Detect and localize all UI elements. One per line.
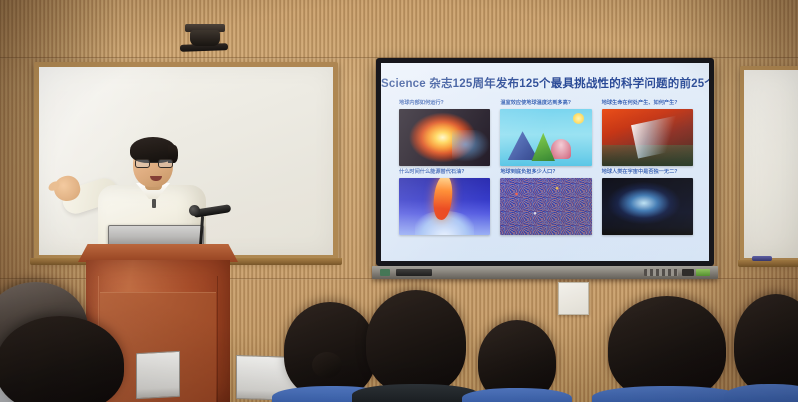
podium-laptop xyxy=(108,225,204,247)
audience-head-4 xyxy=(366,290,466,394)
audience-shoulder-4 xyxy=(352,384,480,402)
lens-left xyxy=(135,159,150,168)
audience-shoulder-6 xyxy=(592,386,742,402)
slide-tile-3: 地球生命在何处产生、如何产生? xyxy=(602,101,693,166)
slide-tile-label: 什么时间什么能源替代石油? xyxy=(399,170,490,176)
brand-logo xyxy=(396,269,432,276)
slide-tile-2: 温室效应使地球温度达到多高? xyxy=(500,101,591,166)
port-panel xyxy=(644,269,678,276)
slide-tile-label: 地球内部如何运行? xyxy=(399,101,490,107)
lens-right xyxy=(158,159,173,168)
audience-head-6 xyxy=(608,296,726,400)
whiteboard-right xyxy=(740,66,798,262)
slide-title: Science 杂志125周年发布125个最具挑战性的科学问题的前25个 xyxy=(381,75,709,91)
slide-tile-label: 温室效应使地球温度达到多高? xyxy=(500,101,591,107)
sensor-window xyxy=(682,269,694,276)
slide-tile-6: 地球人类在宇宙中是否独一无二? xyxy=(602,170,693,235)
cosmos-image xyxy=(602,178,693,235)
power-indicator xyxy=(380,269,390,276)
slide-tile-label: 地球生命在何处产生、如何产生? xyxy=(602,101,693,107)
dome-shape xyxy=(551,139,571,160)
presentation-display: Science 杂志125周年发布125个最具挑战性的科学问题的前25个 地球内… xyxy=(376,58,714,266)
population-image xyxy=(500,178,591,235)
slide-image-grid: 地球内部如何运行? 温室效应使地球温度达到多高? 地球生命在何处产生、如何产生?… xyxy=(399,101,693,235)
wall-control-plate xyxy=(558,282,589,315)
earth-core-image xyxy=(399,109,490,166)
slide-tile-4: 什么时间什么能源替代石油? xyxy=(399,170,490,235)
audience-hair-bun xyxy=(312,352,342,378)
display-screen: Science 杂志125周年发布125个最具挑战性的科学问题的前25个 地球内… xyxy=(381,63,709,261)
greenhouse-image xyxy=(500,109,591,166)
ceiling-camera-icon xyxy=(190,30,220,46)
microphone-capsule xyxy=(189,205,200,216)
status-indicator xyxy=(696,269,710,276)
audience-head-3 xyxy=(284,302,376,398)
origin-of-life-image xyxy=(602,109,693,166)
lecture-hall-photo: Science 杂志125周年发布125个最具挑战性的科学问题的前25个 地球内… xyxy=(0,0,798,402)
slide-tile-1: 地球内部如何运行? xyxy=(399,101,490,166)
slide-tile-5: 地球到底负担多少人口? xyxy=(500,170,591,235)
audience-shoulder-7 xyxy=(724,384,798,402)
sun-icon xyxy=(573,113,584,123)
marker-pen xyxy=(752,256,772,261)
energy-lava-image xyxy=(399,178,490,235)
audience-laptop xyxy=(136,351,180,399)
glasses-bridge xyxy=(150,162,158,163)
slide-tile-label: 地球到底负担多少人口? xyxy=(500,170,591,176)
clip-microphone-icon xyxy=(152,199,156,208)
display-control-strip xyxy=(372,266,718,279)
slide-tile-label: 地球人类在宇宙中是否独一无二? xyxy=(602,170,693,176)
eyeglasses-icon xyxy=(135,159,173,168)
audience-shoulder-5 xyxy=(462,388,572,402)
whiteboard-tray-right xyxy=(738,260,798,267)
